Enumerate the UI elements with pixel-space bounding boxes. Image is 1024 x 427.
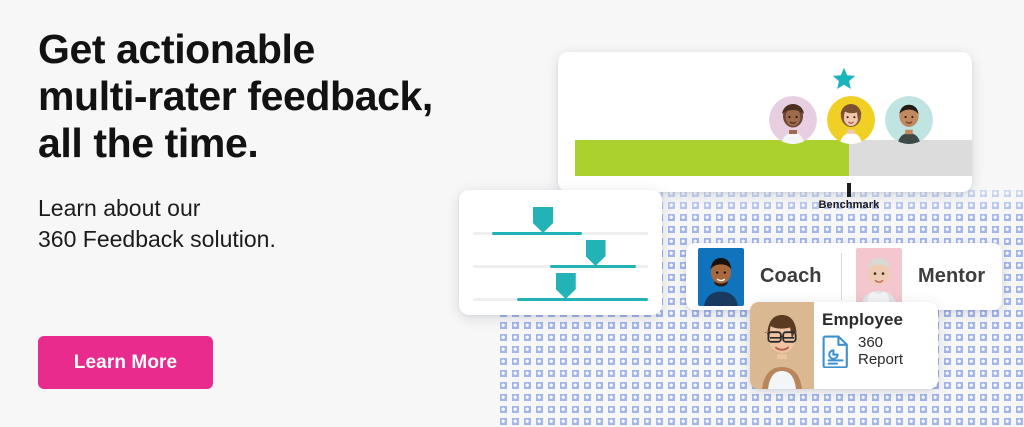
employee-title: Employee — [822, 310, 934, 330]
roles-divider — [841, 253, 842, 300]
document-report-icon — [822, 334, 850, 368]
employee-card: Employee 360 Report — [750, 302, 938, 389]
rating-slider-3[interactable] — [473, 298, 648, 301]
page-title: Get actionable multi-rater feedback, all… — [38, 26, 508, 167]
avatar-rater-3 — [885, 96, 933, 144]
role-coach: Coach — [686, 243, 822, 310]
headline-line-3: all the time. — [38, 120, 508, 167]
slider-fill — [550, 265, 636, 268]
rating-slider-card — [459, 190, 662, 315]
subheading-line-1: Learn about our — [38, 193, 508, 224]
subheading-line-2: 360 Feedback solution. — [38, 224, 508, 255]
report-line-2: Report — [858, 351, 903, 368]
subheading: Learn about our 360 Feedback solution. — [38, 193, 508, 255]
benchmark-avatar-group — [558, 52, 972, 192]
coach-photo — [698, 248, 744, 306]
slider-handle-icon[interactable] — [556, 273, 576, 299]
copy-block: Get actionable multi-rater feedback, all… — [38, 26, 508, 255]
learn-more-button[interactable]: Learn More — [38, 336, 213, 389]
slider-fill — [492, 232, 581, 235]
avatar-rater-2 — [827, 96, 875, 144]
rating-slider-1[interactable] — [473, 232, 648, 235]
report-line-1: 360 — [858, 334, 903, 351]
slider-handle-icon[interactable] — [533, 207, 553, 233]
employee-body: Employee 360 Report — [822, 310, 934, 368]
roles-card: Coach Mentor — [686, 243, 1002, 310]
role-label-coach: Coach — [760, 265, 822, 288]
slider-handle-icon[interactable] — [586, 240, 606, 266]
banner-root: Get actionable multi-rater feedback, all… — [0, 0, 1024, 427]
role-label-mentor: Mentor — [918, 265, 985, 288]
report-row: 360 Report — [822, 334, 934, 368]
benchmark-card: Benchmark — [558, 52, 972, 192]
slider-fill — [517, 298, 648, 301]
role-mentor: Mentor — [856, 243, 985, 310]
employee-photo — [750, 302, 814, 389]
mentor-photo — [856, 248, 902, 306]
headline-line-2: multi-rater feedback, — [38, 73, 508, 120]
avatar-rater-1 — [769, 96, 817, 144]
rating-slider-2[interactable] — [473, 265, 648, 268]
headline-line-1: Get actionable — [38, 26, 508, 73]
benchmark-label: Benchmark — [819, 199, 880, 211]
report-label: 360 Report — [858, 334, 903, 368]
star-icon — [831, 66, 857, 92]
